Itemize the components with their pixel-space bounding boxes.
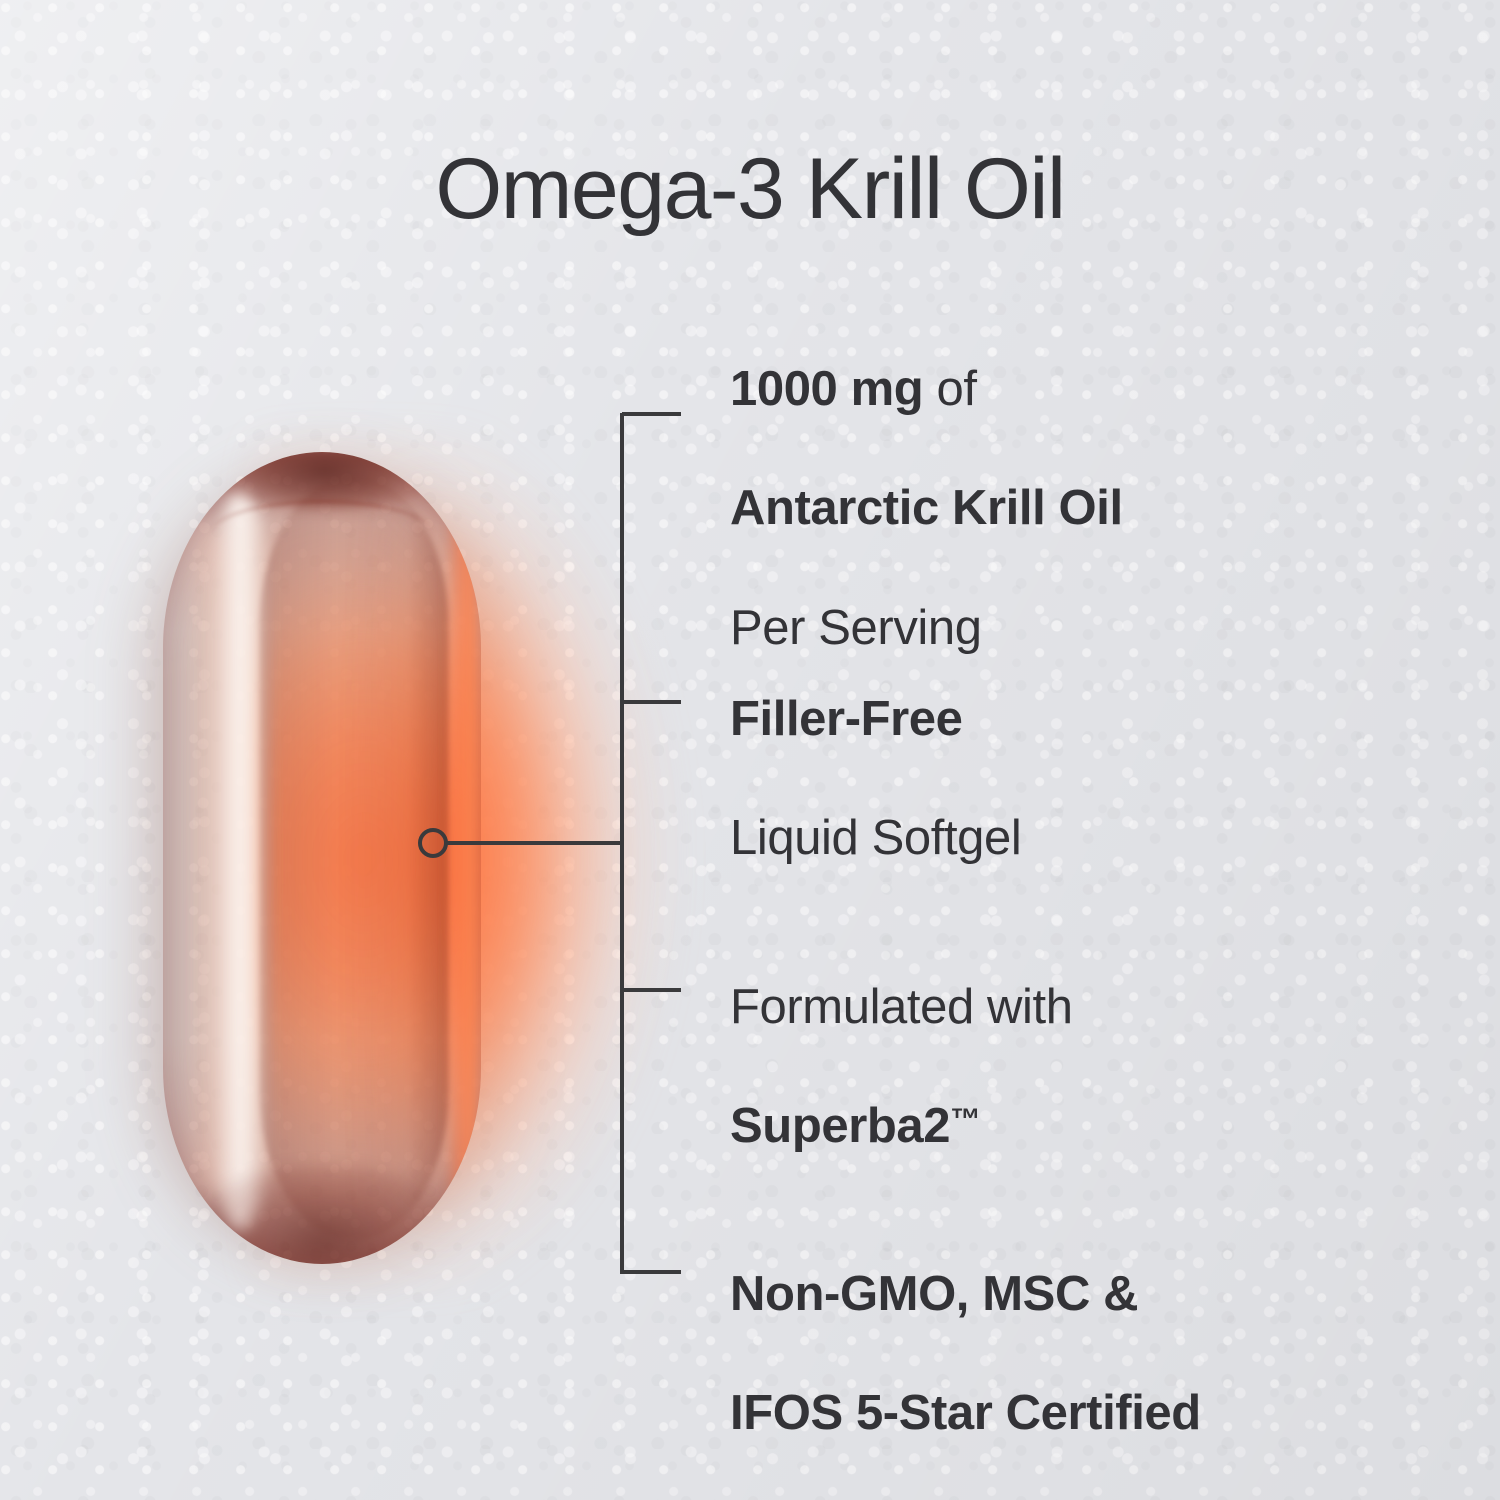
callout-filler-free-line-1: Filler-Free <box>730 690 1021 750</box>
callout-dosage-of: of <box>923 362 976 416</box>
callout-certifications-line-1: Non-GMO, MSC & <box>730 1265 1201 1325</box>
trademark-icon: ™ <box>950 1103 980 1137</box>
callout-filler-free: Filler-Free Liquid Softgel <box>730 630 1021 929</box>
callout-superba2-line-2: Superba2™ <box>730 1097 1073 1157</box>
callout-superba2-line-1: Formulated with <box>730 978 1073 1038</box>
callout-superba2: Formulated with Superba2™ <box>730 918 1073 1217</box>
capsule-pointer-circle <box>420 830 446 856</box>
callout-certifications: Non-GMO, MSC & IFOS 5-Star Certified <box>730 1205 1201 1500</box>
callout-certifications-line-2: IFOS 5-Star Certified <box>730 1384 1201 1444</box>
krill-oil-infographic: Omega-3 Krill Oil 1000 mg of Antarctic K… <box>0 0 1500 1500</box>
callout-filler-free-line-2: Liquid Softgel <box>730 809 1021 869</box>
callout-superba2-name: Superba2 <box>730 1099 950 1153</box>
callout-dosage-line-2: Antarctic Krill Oil <box>730 479 1123 539</box>
callout-dosage-line-1: 1000 mg of <box>730 360 1123 420</box>
callout-dosage-amount: 1000 mg <box>730 362 923 416</box>
